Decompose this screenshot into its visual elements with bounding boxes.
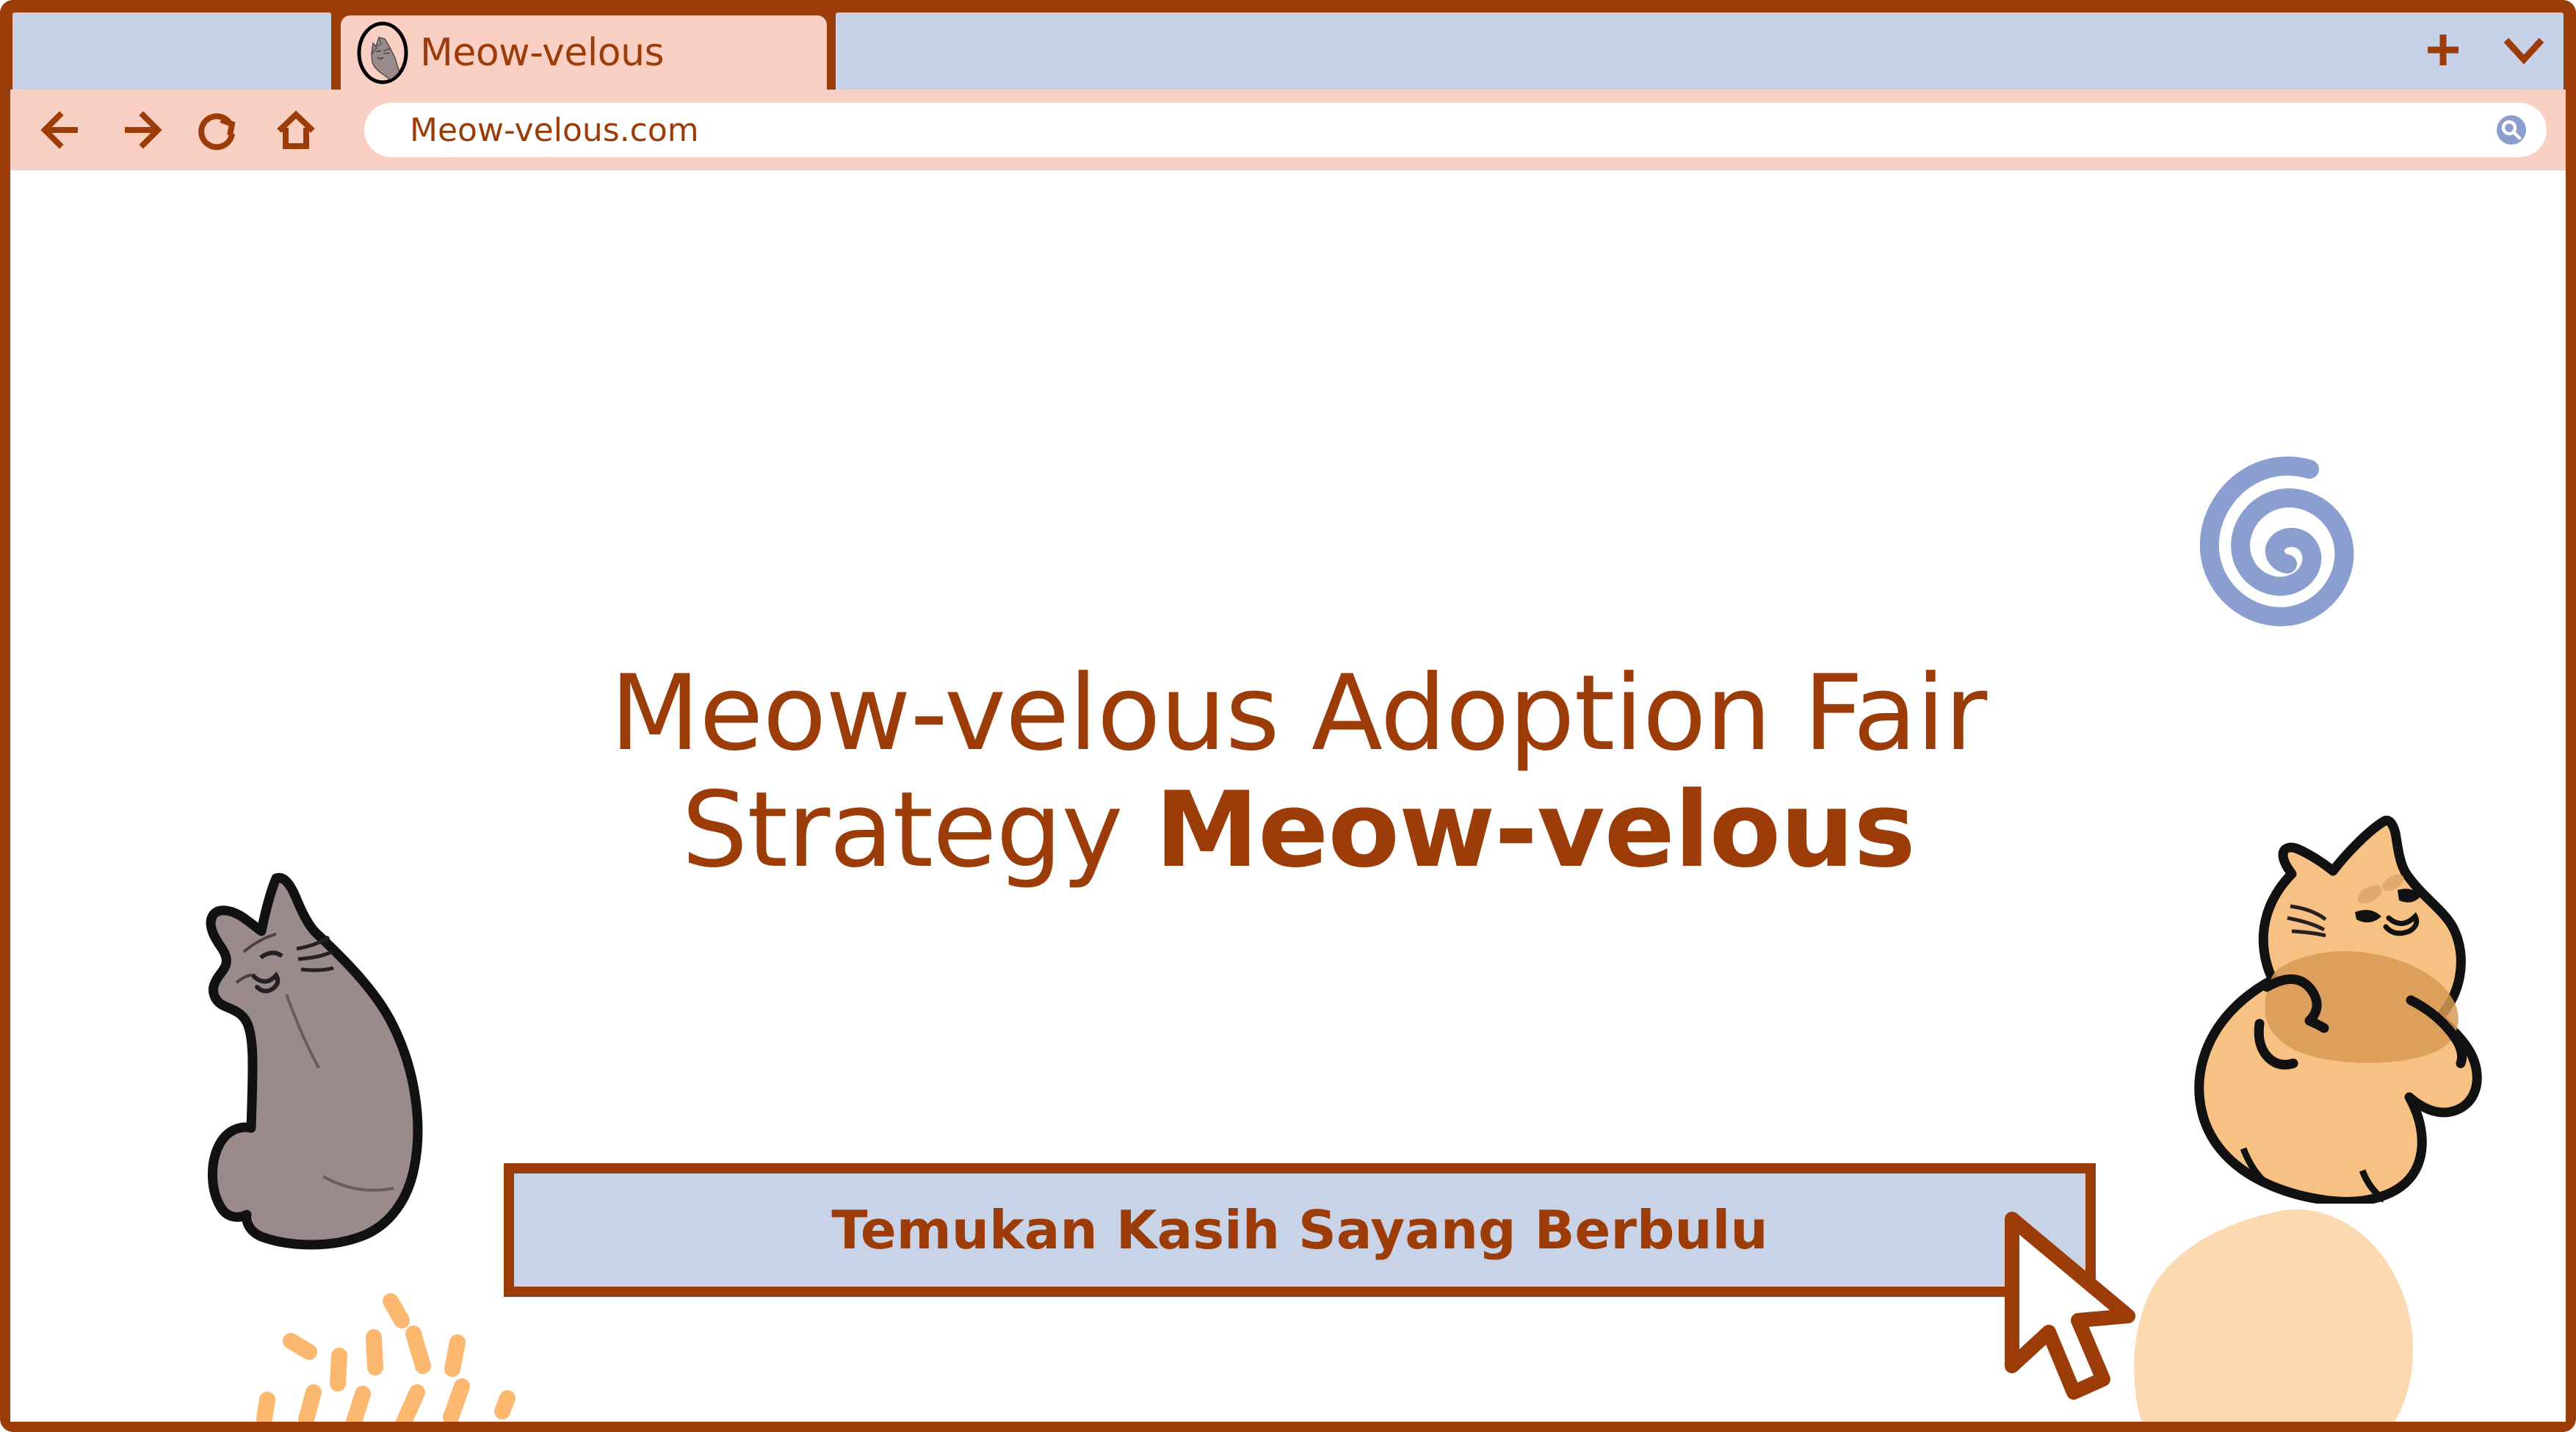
tab-strip-empty-right [833, 10, 2566, 90]
address-bar[interactable]: Meow-velous.com [364, 103, 2547, 157]
cta-button[interactable]: Temukan Kasih Sayang Berbulu [504, 1163, 2096, 1297]
tab-strip-actions [2422, 10, 2545, 90]
peach-blob-decoration [2131, 1206, 2439, 1422]
dash-pattern-decoration [247, 1275, 533, 1422]
address-url-text[interactable]: Meow-velous.com [410, 112, 2495, 149]
tab-strip-empty-left [10, 10, 333, 90]
reload-icon[interactable] [195, 107, 241, 153]
browser-toolbar: Meow-velous.com [10, 90, 2566, 170]
headline-line-2-emphasis: Meow-velous [1155, 770, 1915, 891]
spiral-decoration [2153, 441, 2395, 654]
browser-tab-title: Meow-velous [420, 31, 664, 75]
chevron-down-icon[interactable] [2503, 29, 2545, 71]
browser-window: Meow-velous [0, 0, 2576, 1432]
headline-line-2-normal: Strategy [681, 770, 1155, 891]
headline-line-1: Meow-velous Adoption Fair [10, 655, 2566, 772]
home-icon[interactable] [273, 107, 319, 153]
page-viewport: Meow-velous Adoption Fair Strategy Meow-… [10, 170, 2566, 1422]
plus-icon[interactable] [2422, 29, 2464, 71]
orange-cat-illustration [2180, 803, 2503, 1204]
grey-cat-illustration [164, 853, 480, 1250]
forward-arrow-icon[interactable] [117, 107, 163, 153]
mouse-cursor [1999, 1209, 2160, 1414]
cta-button-label: Temukan Kasih Sayang Berbulu [831, 1199, 1768, 1261]
browser-tab-meow-velous[interactable]: Meow-velous [334, 9, 833, 90]
search-icon[interactable] [2495, 114, 2528, 146]
tab-strip: Meow-velous [0, 0, 2576, 90]
back-arrow-icon[interactable] [40, 107, 85, 153]
grey-cat-avatar-icon [357, 21, 408, 84]
